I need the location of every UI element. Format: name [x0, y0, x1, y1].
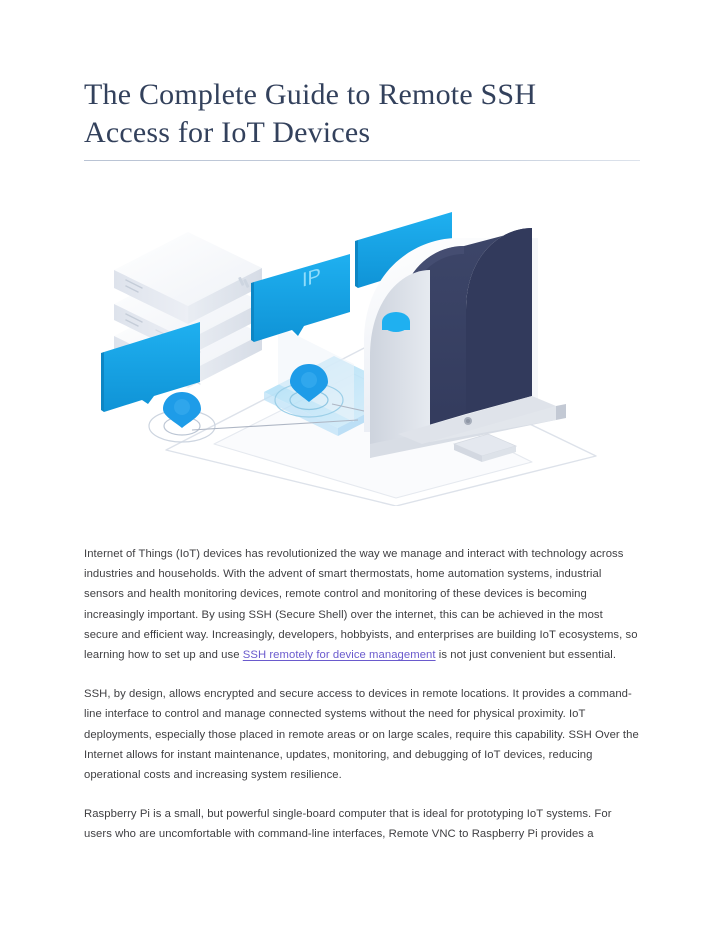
- title-block: The Complete Guide to Remote SSH Access …: [84, 76, 642, 152]
- isometric-iot-ssh-illustration: IP: [96, 206, 636, 506]
- body-copy: Internet of Things (IoT) devices has rev…: [84, 544, 640, 845]
- document-page: The Complete Guide to Remote SSH Access …: [0, 0, 720, 931]
- paragraph-2: SSH, by design, allows encrypted and sec…: [84, 684, 640, 785]
- title-divider: [84, 160, 640, 161]
- location-pin-left-icon: [149, 392, 215, 442]
- paragraph-1-text-b: is not just convenient but essential.: [436, 649, 617, 661]
- speech-bubble-ip-icon: IP: [251, 254, 350, 342]
- paragraph-1-text-a: Internet of Things (IoT) devices has rev…: [84, 548, 638, 661]
- ssh-device-management-link[interactable]: SSH remotely for device management: [243, 649, 436, 661]
- page-title: The Complete Guide to Remote SSH Access …: [84, 76, 642, 152]
- accent-dot-base-icon: [382, 322, 410, 330]
- paragraph-3: Raspberry Pi is a small, but powerful si…: [84, 804, 640, 844]
- paragraph-1: Internet of Things (IoT) devices has rev…: [84, 544, 640, 665]
